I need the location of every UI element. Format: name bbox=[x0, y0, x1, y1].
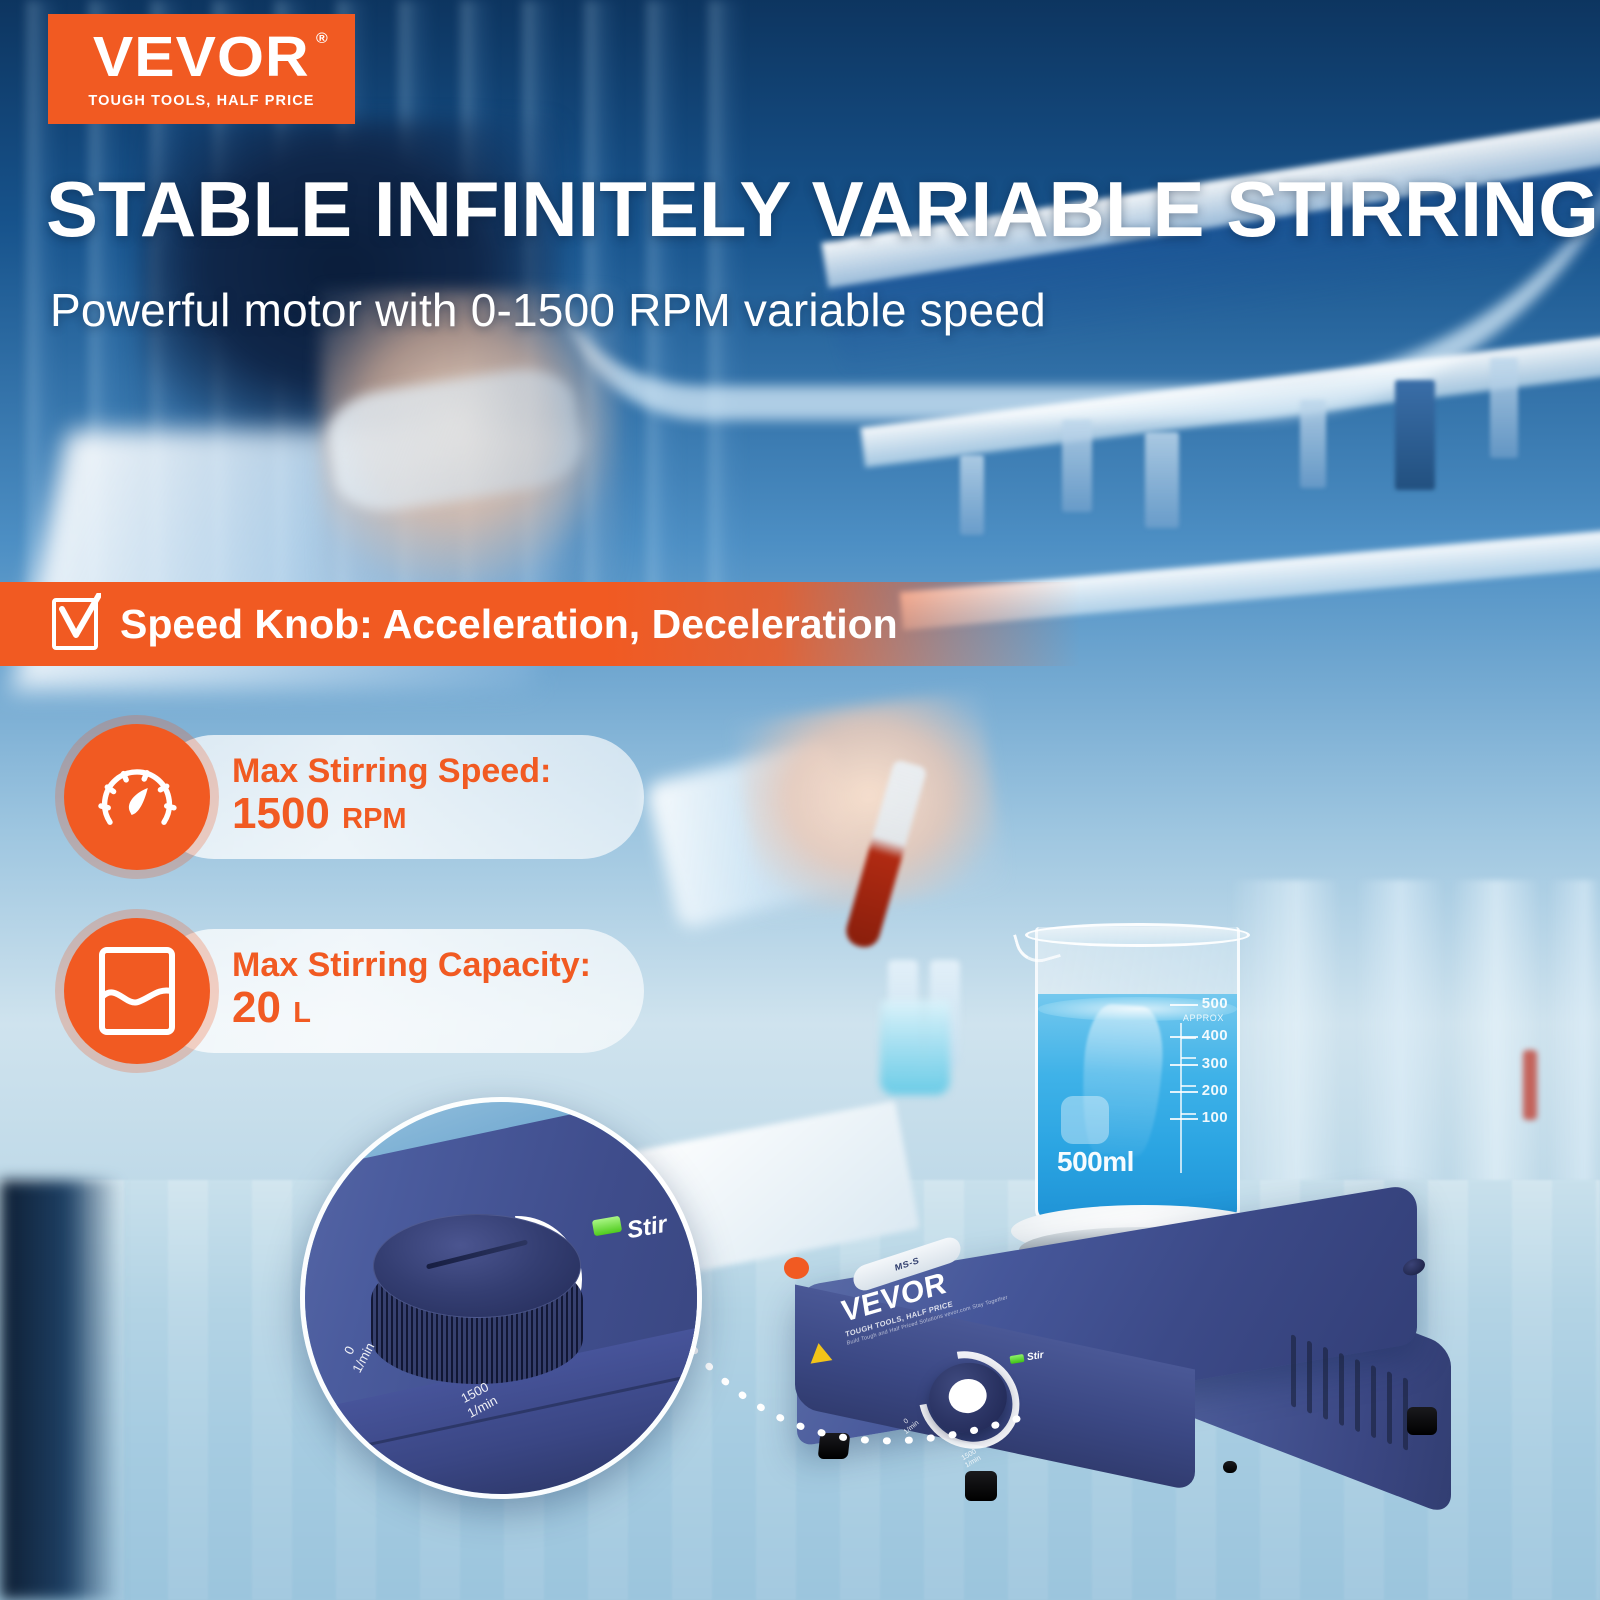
callout-connector-line bbox=[690, 1320, 1030, 1460]
red-liquid-tube bbox=[1523, 1050, 1537, 1120]
feature-pill-body: Max Stirring Speed: 1500 RPM bbox=[152, 735, 644, 859]
feature-pill-capacity: Max Stirring Capacity: 20 L bbox=[64, 918, 644, 1064]
graduation-tick bbox=[1181, 1057, 1196, 1059]
lab-jar bbox=[1300, 400, 1326, 488]
page-title: STABLE INFINITELY VARIABLE STIRRING bbox=[46, 172, 1556, 246]
graduation-label: 400 bbox=[1202, 1027, 1228, 1044]
graduation-tick bbox=[1181, 1113, 1196, 1115]
graduation-tick bbox=[1181, 1085, 1196, 1087]
vevor-logo: VEVOR® TOUGH TOOLS, HALF PRICE bbox=[48, 14, 355, 124]
feature-number: 20 bbox=[232, 983, 281, 1032]
page-subtitle: Powerful motor with 0-1500 RPM variable … bbox=[50, 283, 1046, 337]
feature-value: 1500 RPM bbox=[232, 790, 598, 838]
graduation-label: 100 bbox=[1202, 1109, 1228, 1126]
inset-speed-knob[interactable] bbox=[371, 1214, 583, 1386]
rubber-foot bbox=[1223, 1461, 1237, 1473]
feature-value: 20 L bbox=[232, 984, 598, 1032]
glass-beaker: 500 APPROX 400 300 200 100 500ml bbox=[1035, 927, 1240, 1222]
graduation-label: 500 bbox=[1202, 995, 1228, 1012]
inset-min-value: 0 bbox=[341, 1343, 358, 1356]
checkbox-checked-icon bbox=[52, 598, 98, 650]
graduation-approx-label: APPROX bbox=[1183, 1013, 1224, 1023]
speedometer-glyph bbox=[92, 752, 182, 842]
logo-wordmark: VEVOR® bbox=[93, 29, 310, 86]
knob-top-face bbox=[373, 1214, 581, 1318]
graduation-scale-line bbox=[1180, 1023, 1182, 1173]
registered-mark-icon: ® bbox=[316, 31, 329, 46]
lab-jar bbox=[1062, 420, 1092, 512]
beaker-glyph bbox=[96, 944, 178, 1038]
feature-banner: Speed Knob: Acceleration, Deceleration bbox=[0, 582, 1080, 666]
lab-jar bbox=[1145, 432, 1179, 528]
speedometer-icon bbox=[64, 724, 210, 870]
lab-jar bbox=[1395, 380, 1435, 490]
feature-pill-speed: Max Stirring Speed: 1500 RPM bbox=[64, 724, 644, 870]
model-label: MS-S bbox=[894, 1255, 920, 1272]
rubber-foot bbox=[1407, 1407, 1437, 1435]
marketing-banner: VEVOR® TOUGH TOOLS, HALF PRICE STABLE IN… bbox=[0, 0, 1600, 1600]
logo-text: VEVOR bbox=[93, 25, 310, 89]
rubber-foot bbox=[965, 1471, 997, 1501]
beaker-liquid-level-icon bbox=[64, 918, 210, 1064]
bench-shadow bbox=[0, 1180, 120, 1600]
speed-knob-closeup: Stir 0 1/min 1500 1/min bbox=[300, 1097, 702, 1499]
check-mark-icon bbox=[59, 593, 101, 639]
beaker-rim bbox=[1025, 923, 1250, 947]
feature-unit: L bbox=[293, 997, 311, 1029]
beaker-white-square bbox=[1061, 1096, 1109, 1144]
graduation-label: 300 bbox=[1202, 1055, 1228, 1072]
feature-pill-body: Max Stirring Capacity: 20 L bbox=[152, 929, 644, 1053]
banner-label: Speed Knob: Acceleration, Deceleration bbox=[120, 601, 898, 648]
feature-number: 1500 bbox=[232, 789, 330, 838]
knob-indicator-dot bbox=[784, 1257, 809, 1279]
logo-tagline: TOUGH TOOLS, HALF PRICE bbox=[88, 93, 314, 109]
feature-title: Max Stirring Speed: bbox=[232, 753, 598, 790]
feature-unit: RPM bbox=[342, 803, 406, 835]
lab-jar bbox=[1490, 358, 1518, 458]
beaker-capacity-label: 500ml bbox=[1057, 1146, 1134, 1178]
lab-jar bbox=[960, 455, 984, 535]
graduation-label: 200 bbox=[1202, 1082, 1228, 1099]
feature-title: Max Stirring Capacity: bbox=[232, 947, 598, 984]
